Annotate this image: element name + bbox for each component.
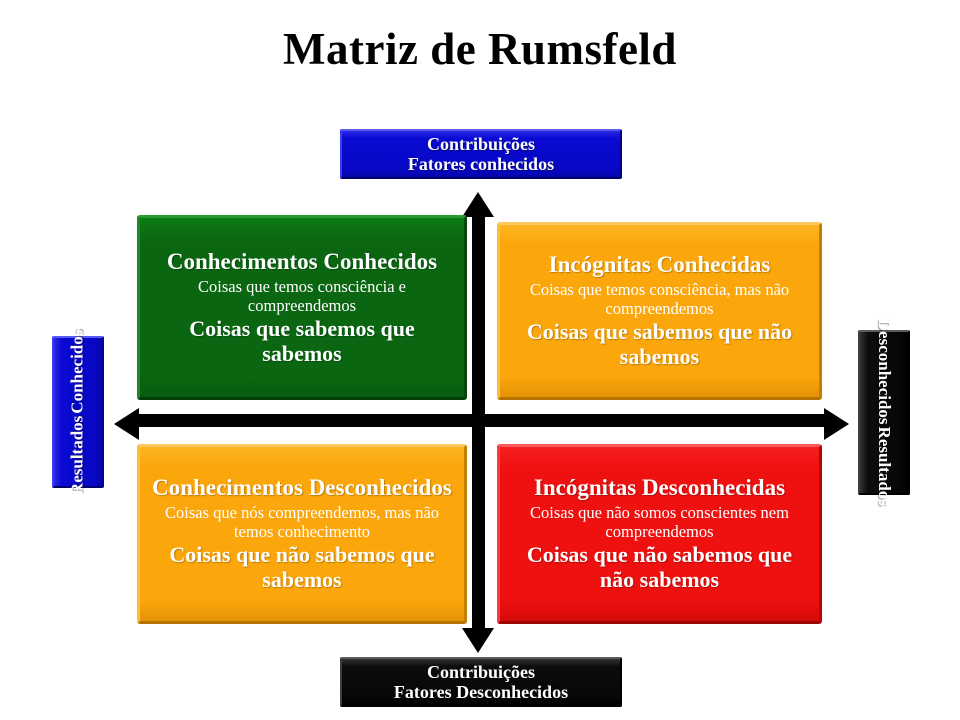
- quadrant-known-unknowns-title: Incógnitas Conhecidas: [549, 252, 771, 278]
- axis-label-top-line2: Fatores conhecidos: [408, 154, 554, 174]
- quadrant-known-unknowns: Incógnitas Conhecidas Coisas que temos c…: [497, 222, 822, 400]
- quadrant-known-knowns-subtitle: Coisas que temos consciência e compreend…: [150, 277, 454, 315]
- axis-label-top-line1: Contribuições: [427, 134, 535, 154]
- axis-label-bottom: Contribuições Fatores Desconhecidos: [340, 657, 622, 707]
- quadrant-unknown-unknowns-statement: Coisas que não sabemos que não sabemos: [510, 543, 809, 593]
- axis-label-left-line1: Resultados: [69, 414, 88, 495]
- quadrant-unknown-knowns-subtitle: Coisas que nós compreendemos, mas não te…: [150, 503, 454, 541]
- axis-label-right: Resultados Desconhecidos: [858, 330, 910, 495]
- axis-label-left: Resultados Conhecidos: [52, 336, 104, 488]
- axis-label-top: Contribuições Fatores conhecidos: [340, 129, 622, 179]
- axis-label-bottom-line1: Contribuições: [427, 662, 535, 682]
- axis-label-bottom-line2: Fatores Desconhecidos: [394, 682, 568, 702]
- quadrant-known-knowns-statement: Coisas que sabemos que sabemos: [150, 317, 454, 367]
- quadrant-known-knowns: Conhecimentos Conhecidos Coisas que temo…: [137, 215, 467, 400]
- axis-arrow-down-icon: [462, 628, 494, 653]
- quadrant-unknown-unknowns: Incógnitas Desconhecidas Coisas que não …: [497, 444, 822, 624]
- horizontal-axis-line: [136, 414, 826, 427]
- axis-label-left-line2: Conhecidos: [69, 328, 88, 414]
- page-title: Matriz de Rumsfeld: [0, 26, 960, 73]
- quadrant-unknown-knowns: Conhecimentos Desconhecidos Coisas que n…: [137, 444, 467, 624]
- axis-label-left-rotated: Resultados Conhecidos: [69, 328, 88, 495]
- quadrant-unknown-unknowns-title: Incógnitas Desconhecidas: [534, 475, 785, 501]
- rumsfeld-matrix-diagram: Matriz de Rumsfeld Contribuições Fatores…: [0, 0, 960, 720]
- quadrant-unknown-knowns-title: Conhecimentos Desconhecidos: [152, 475, 452, 501]
- quadrant-known-unknowns-statement: Coisas que sabemos que não sabemos: [510, 320, 809, 370]
- quadrant-unknown-knowns-statement: Coisas que não sabemos que sabemos: [150, 543, 454, 593]
- axis-arrow-right-icon: [824, 408, 849, 440]
- quadrant-known-knowns-title: Conhecimentos Conhecidos: [167, 249, 437, 275]
- quadrant-known-unknowns-subtitle: Coisas que temos consciência, mas não co…: [510, 280, 809, 318]
- axis-label-right-line1: Resultados: [875, 426, 894, 507]
- axis-label-right-rotated: Resultados Desconhecidos: [875, 318, 894, 507]
- axis-label-right-line2: Desconhecidos: [875, 318, 894, 426]
- quadrant-unknown-unknowns-subtitle: Coisas que não somos conscientes nem com…: [510, 503, 809, 541]
